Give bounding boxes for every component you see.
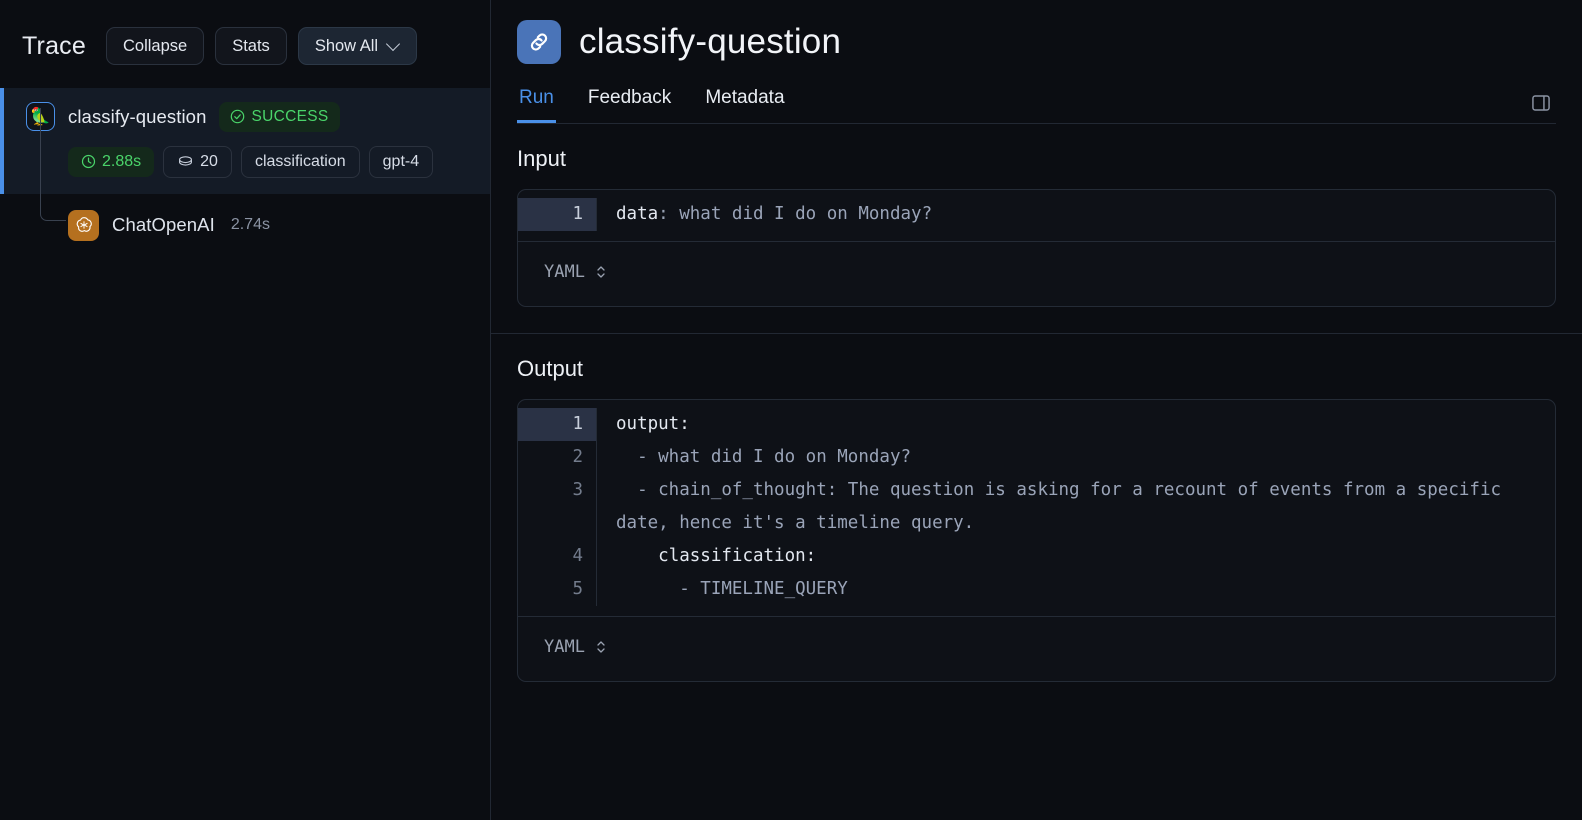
token-count-label: 20 bbox=[200, 154, 218, 170]
tag-badge-classification-label: classification bbox=[255, 154, 346, 170]
tag-badge-classification: classification bbox=[241, 146, 360, 178]
line-number: 1 bbox=[518, 198, 596, 231]
run-detail-header: classify-question Run Feedback Metadata bbox=[491, 0, 1582, 124]
latency-badge-label: 2.88s bbox=[102, 154, 141, 170]
input-heading: Input bbox=[517, 124, 1556, 189]
trace-panel-title: Trace bbox=[22, 32, 86, 61]
output-code-text[interactable]: output: - what did I do on Monday? - cha… bbox=[597, 408, 1555, 606]
input-code-body: 1 data: what did I do on Monday? bbox=[518, 190, 1555, 241]
trace-tree-child-duration: 2.74s bbox=[231, 216, 270, 234]
yaml-line: - TIMELINE_QUERY bbox=[616, 579, 848, 599]
tab-run-label: Run bbox=[519, 87, 554, 108]
tab-feedback[interactable]: Feedback bbox=[586, 84, 673, 123]
yaml-line: output: bbox=[616, 414, 690, 434]
tabs-row: Run Feedback Metadata bbox=[517, 84, 1556, 124]
chevron-down-icon bbox=[387, 38, 400, 51]
tab-run[interactable]: Run bbox=[517, 84, 556, 123]
trace-tree-root-name: classify-question bbox=[68, 106, 206, 128]
output-language-select[interactable]: YAML bbox=[544, 637, 607, 657]
trace-toolbar: Trace Collapse Stats Show All bbox=[0, 0, 490, 88]
line-number: 2 bbox=[518, 441, 596, 474]
line-number-wrap bbox=[518, 507, 596, 540]
input-code-footer: YAML bbox=[518, 241, 1555, 306]
output-code-card: 1 2 3 4 5 output: - what did I do on Mon… bbox=[517, 399, 1556, 682]
trace-tree-child-name: ChatOpenAI bbox=[112, 214, 215, 236]
token-icon bbox=[177, 155, 194, 168]
input-section: Input 1 data: what did I do on Monday? Y… bbox=[491, 124, 1582, 333]
output-line-numbers: 1 2 3 4 5 bbox=[518, 408, 597, 606]
trace-tree-child-row[interactable]: ChatOpenAI 2.74s bbox=[0, 194, 490, 241]
parrot-icon-glyph: 🦜 bbox=[30, 108, 51, 125]
yaml-colon: : bbox=[658, 204, 669, 224]
stats-button-label: Stats bbox=[232, 38, 270, 55]
title-row: classify-question bbox=[517, 20, 1556, 64]
output-heading: Output bbox=[517, 334, 1556, 399]
input-code-card: 1 data: what did I do on Monday? YAML bbox=[517, 189, 1556, 307]
tab-metadata-label: Metadata bbox=[705, 87, 784, 108]
show-all-button[interactable]: Show All bbox=[298, 27, 417, 66]
output-section: Output 1 2 3 4 5 output: - what did I do… bbox=[491, 334, 1582, 682]
token-count-badge: 20 bbox=[163, 146, 232, 178]
run-detail-panel: classify-question Run Feedback Metadata bbox=[491, 0, 1582, 820]
status-badge-label: SUCCESS bbox=[251, 109, 328, 125]
show-all-button-label: Show All bbox=[315, 38, 378, 55]
clock-icon bbox=[81, 154, 96, 169]
tag-badge-model: gpt-4 bbox=[369, 146, 433, 178]
trace-tree-root-row[interactable]: 🦜 classify-question SUCCESS bbox=[0, 88, 490, 194]
trace-tree: 🦜 classify-question SUCCESS bbox=[0, 88, 490, 241]
yaml-value: what did I do on Monday? bbox=[669, 204, 932, 224]
input-language-label: YAML bbox=[544, 262, 585, 282]
output-code-footer: YAML bbox=[518, 616, 1555, 681]
chevron-up-down-icon bbox=[595, 263, 607, 281]
app-root: Trace Collapse Stats Show All 🦜 classify… bbox=[0, 0, 1582, 820]
panel-right-icon[interactable] bbox=[1530, 92, 1552, 123]
line-number: 1 bbox=[518, 408, 596, 441]
input-line-numbers: 1 bbox=[518, 198, 597, 231]
trace-sidebar: Trace Collapse Stats Show All 🦜 classify… bbox=[0, 0, 491, 820]
output-code-body: 1 2 3 4 5 output: - what did I do on Mon… bbox=[518, 400, 1555, 616]
yaml-line: - chain_of_thought: The question is aski… bbox=[616, 480, 1512, 533]
yaml-line: classification: bbox=[616, 546, 816, 566]
chevron-up-down-icon bbox=[595, 638, 607, 656]
tab-metadata[interactable]: Metadata bbox=[703, 84, 786, 123]
input-code-text[interactable]: data: what did I do on Monday? bbox=[597, 198, 1555, 231]
status-badge: SUCCESS bbox=[219, 102, 339, 132]
openai-icon bbox=[68, 210, 99, 241]
stats-button[interactable]: Stats bbox=[215, 27, 287, 66]
line-number: 3 bbox=[518, 474, 596, 507]
collapse-button[interactable]: Collapse bbox=[106, 27, 204, 66]
tag-badge-model-label: gpt-4 bbox=[383, 154, 419, 170]
parrot-icon: 🦜 bbox=[26, 102, 55, 131]
input-language-select[interactable]: YAML bbox=[544, 262, 607, 282]
chain-link-icon bbox=[517, 20, 561, 64]
yaml-key: data bbox=[616, 204, 658, 224]
line-number: 5 bbox=[518, 573, 596, 606]
check-circle-icon bbox=[230, 109, 245, 124]
line-number: 4 bbox=[518, 540, 596, 573]
tab-feedback-label: Feedback bbox=[588, 87, 671, 108]
collapse-button-label: Collapse bbox=[123, 38, 187, 55]
trace-tree-root-badges: 2.88s 20 classification bbox=[0, 146, 490, 178]
yaml-line: - what did I do on Monday? bbox=[616, 447, 911, 467]
page-title: classify-question bbox=[579, 22, 841, 62]
trace-tree-root-main: 🦜 classify-question SUCCESS bbox=[0, 102, 490, 132]
output-language-label: YAML bbox=[544, 637, 585, 657]
latency-badge: 2.88s bbox=[68, 147, 154, 177]
